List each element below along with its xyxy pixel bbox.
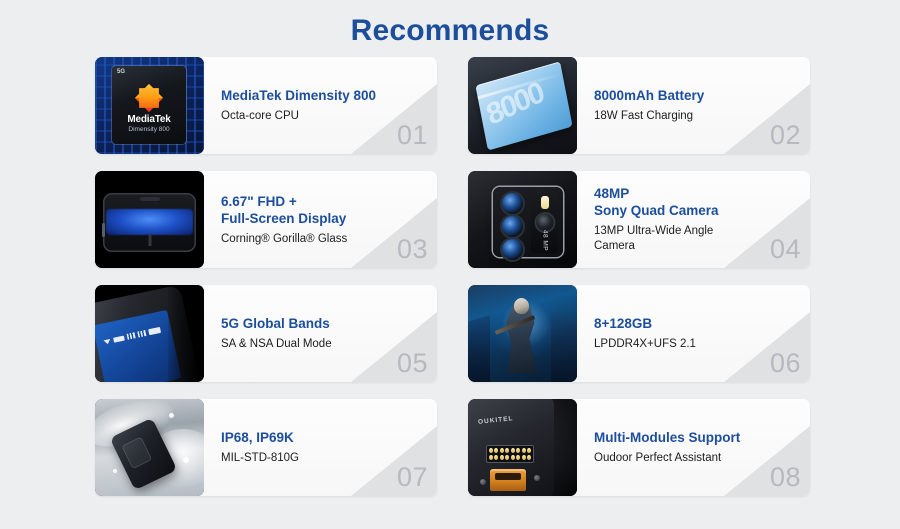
camera-lens-icon — [502, 239, 523, 260]
water-drop-icon — [183, 457, 189, 463]
pogo-pin-connector-image: OUKITEL — [468, 399, 577, 496]
card-subtitle-8: Oudoor Perfect Assistant — [594, 451, 800, 466]
card-subtitle-2: 18W Fast Charging — [594, 109, 800, 124]
card-text-7: IP68, IP69K MIL-STD-810G — [204, 399, 437, 496]
card-subtitle-1: Octa-core CPU — [221, 109, 427, 124]
card-text-3: 6.67" FHD + Full-Screen Display Corning®… — [204, 171, 437, 268]
card-title-1: MediaTek Dimensity 800 — [221, 87, 427, 104]
card-title-3: 6.67" FHD + Full-Screen Display — [221, 193, 427, 227]
module-port-connector — [490, 469, 526, 491]
phone-notch-icon — [140, 197, 160, 201]
phone-side-button-icon — [102, 223, 105, 237]
screw-icon — [480, 479, 486, 485]
signal-bars-icon — [137, 330, 146, 338]
recommend-card-6[interactable]: 8+128GB LPDDR4X+UFS 2.1 06 — [468, 285, 810, 382]
camera-flash-icon — [541, 196, 549, 209]
signal-bars-icon — [127, 332, 136, 340]
card-subtitle-4: 13MP Ultra-Wide Angle Camera — [594, 224, 800, 254]
gaming-scene-image — [468, 285, 577, 382]
battery-image — [468, 57, 577, 154]
recommend-card-5[interactable]: 5G Global Bands SA & NSA Dual Mode 05 — [95, 285, 437, 382]
card-subtitle-7: MIL-STD-810G — [221, 451, 427, 466]
screw-icon — [534, 475, 540, 481]
recommend-card-3[interactable]: 6.67" FHD + Full-Screen Display Corning®… — [95, 171, 437, 268]
card-text-1: MediaTek Dimensity 800 Octa-core CPU — [204, 57, 437, 154]
recommends-page: Recommends 5G MediaTek Dimensity 800 Med… — [0, 0, 900, 529]
card-subtitle-3: Corning® Gorilla® Glass — [221, 232, 427, 247]
recommend-card-8[interactable]: OUKITEL Multi-Modules Support Oudoor Per… — [468, 399, 810, 496]
recommend-cards-grid: 5G MediaTek Dimensity 800 MediaTek Dimen… — [95, 57, 810, 496]
card-title-2: 8000mAh Battery — [594, 87, 800, 104]
recommend-card-2[interactable]: 8000mAh Battery 18W Fast Charging 02 — [468, 57, 810, 154]
battery-icon — [148, 327, 161, 335]
card-text-6: 8+128GB LPDDR4X+UFS 2.1 — [577, 285, 810, 382]
waterproof-splash-image — [95, 399, 204, 496]
recommend-card-7[interactable]: IP68, IP69K MIL-STD-810G 07 — [95, 399, 437, 496]
phone-screen-glow — [106, 209, 193, 235]
camera-lens-icon — [536, 214, 553, 231]
card-text-5: 5G Global Bands SA & NSA Dual Mode — [204, 285, 437, 382]
card-title-8: Multi-Modules Support — [594, 429, 800, 446]
chip-model-label: Dimensity 800 — [112, 126, 186, 133]
water-drop-icon — [113, 469, 117, 473]
chip-brand-label: MediaTek — [112, 114, 186, 125]
network-pill-icon — [113, 335, 125, 342]
card-title-4: 48MP Sony Quad Camera — [594, 185, 800, 219]
wifi-icon — [103, 337, 111, 344]
page-title: Recommends — [0, 14, 900, 48]
camera-mp-label: 48 MP — [541, 230, 548, 251]
camera-lens-icon — [502, 193, 523, 214]
card-text-8: Multi-Modules Support Oudoor Perfect Ass… — [577, 399, 810, 496]
mediatek-chip-image: 5G MediaTek Dimensity 800 — [95, 57, 204, 154]
quad-camera-module-image: 48 MP — [468, 171, 577, 268]
mediatek-logo-icon — [135, 84, 163, 112]
card-text-2: 8000mAh Battery 18W Fast Charging — [577, 57, 810, 154]
card-subtitle-5: SA & NSA Dual Mode — [221, 337, 427, 352]
recommend-card-4[interactable]: 48 MP 48MP Sony Quad Camera 13MP Ultra-W… — [468, 171, 810, 268]
card-title-5: 5G Global Bands — [221, 315, 427, 332]
card-subtitle-6: LPDDR4X+UFS 2.1 — [594, 337, 800, 352]
rugged-phone-5g-image — [95, 285, 204, 382]
chip-5g-badge: 5G — [117, 69, 125, 75]
card-text-4: 48MP Sony Quad Camera 13MP Ultra-Wide An… — [577, 171, 810, 268]
water-drop-icon — [169, 413, 174, 418]
camera-lens-icon — [502, 216, 523, 237]
recommend-card-1[interactable]: 5G MediaTek Dimensity 800 MediaTek Dimen… — [95, 57, 437, 154]
phone-display-image — [95, 171, 204, 268]
card-title-7: IP68, IP69K — [221, 429, 427, 446]
card-title-6: 8+128GB — [594, 315, 800, 332]
pogo-pin-array — [486, 445, 534, 463]
